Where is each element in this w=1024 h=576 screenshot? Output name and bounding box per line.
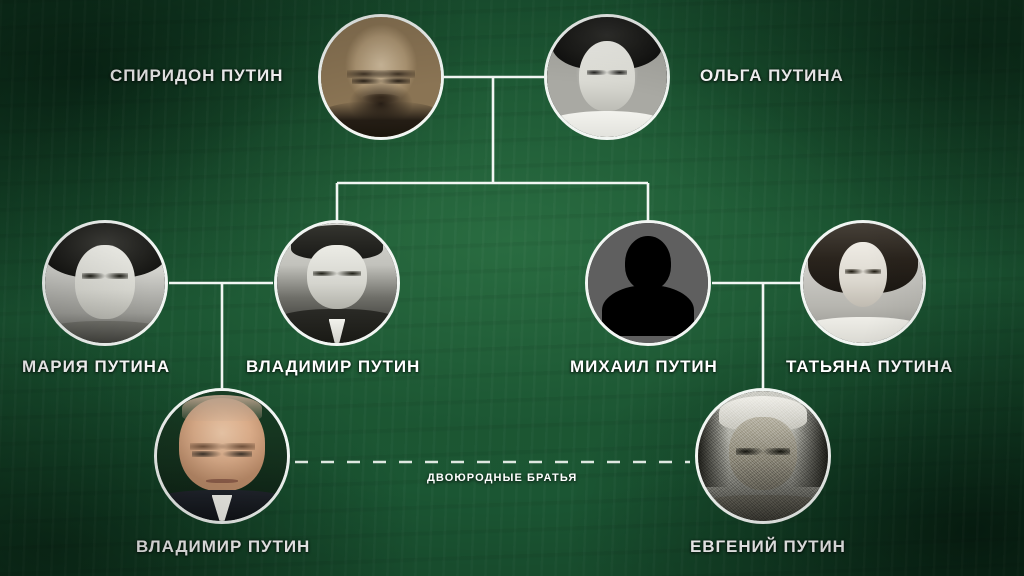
photo-mikhail-placeholder [588, 223, 708, 343]
label-vladimir-jr: ВЛАДИМИР ПУТИН [136, 537, 310, 557]
photo-olga [547, 17, 667, 137]
label-mikhail: МИХАИЛ ПУТИН [570, 357, 718, 377]
photo-spiridon [321, 17, 441, 137]
portrait-olga[interactable] [544, 14, 670, 140]
portrait-spiridon[interactable] [318, 14, 444, 140]
label-evgeny: ЕВГЕНИЙ ПУТИН [690, 537, 846, 557]
portrait-mikhail[interactable] [585, 220, 711, 346]
portrait-vladimir-sr[interactable] [274, 220, 400, 346]
portrait-tatyana[interactable] [800, 220, 926, 346]
portrait-evgeny[interactable] [695, 388, 831, 524]
photo-vladimir-sr [277, 223, 397, 343]
label-vladimir-sr: ВЛАДИМИР ПУТИН [246, 357, 420, 377]
portrait-maria[interactable] [42, 220, 168, 346]
photo-maria [45, 223, 165, 343]
label-cousins-relationship: ДВОЮРОДНЫЕ БРАТЬЯ [427, 472, 577, 484]
portrait-vladimir-jr[interactable] [154, 388, 290, 524]
label-tatyana: ТАТЬЯНА ПУТИНА [786, 357, 953, 377]
label-olga: ОЛЬГА ПУТИНА [700, 66, 844, 86]
photo-vladimir-jr [157, 391, 287, 521]
family-tree-diagram: СПИРИДОН ПУТИН ОЛЬГА ПУТИНА МАРИЯ ПУТИНА… [0, 0, 1024, 576]
label-maria: МАРИЯ ПУТИНА [22, 357, 170, 377]
label-spiridon: СПИРИДОН ПУТИН [110, 66, 283, 86]
photo-evgeny [698, 391, 828, 521]
photo-tatyana [803, 223, 923, 343]
